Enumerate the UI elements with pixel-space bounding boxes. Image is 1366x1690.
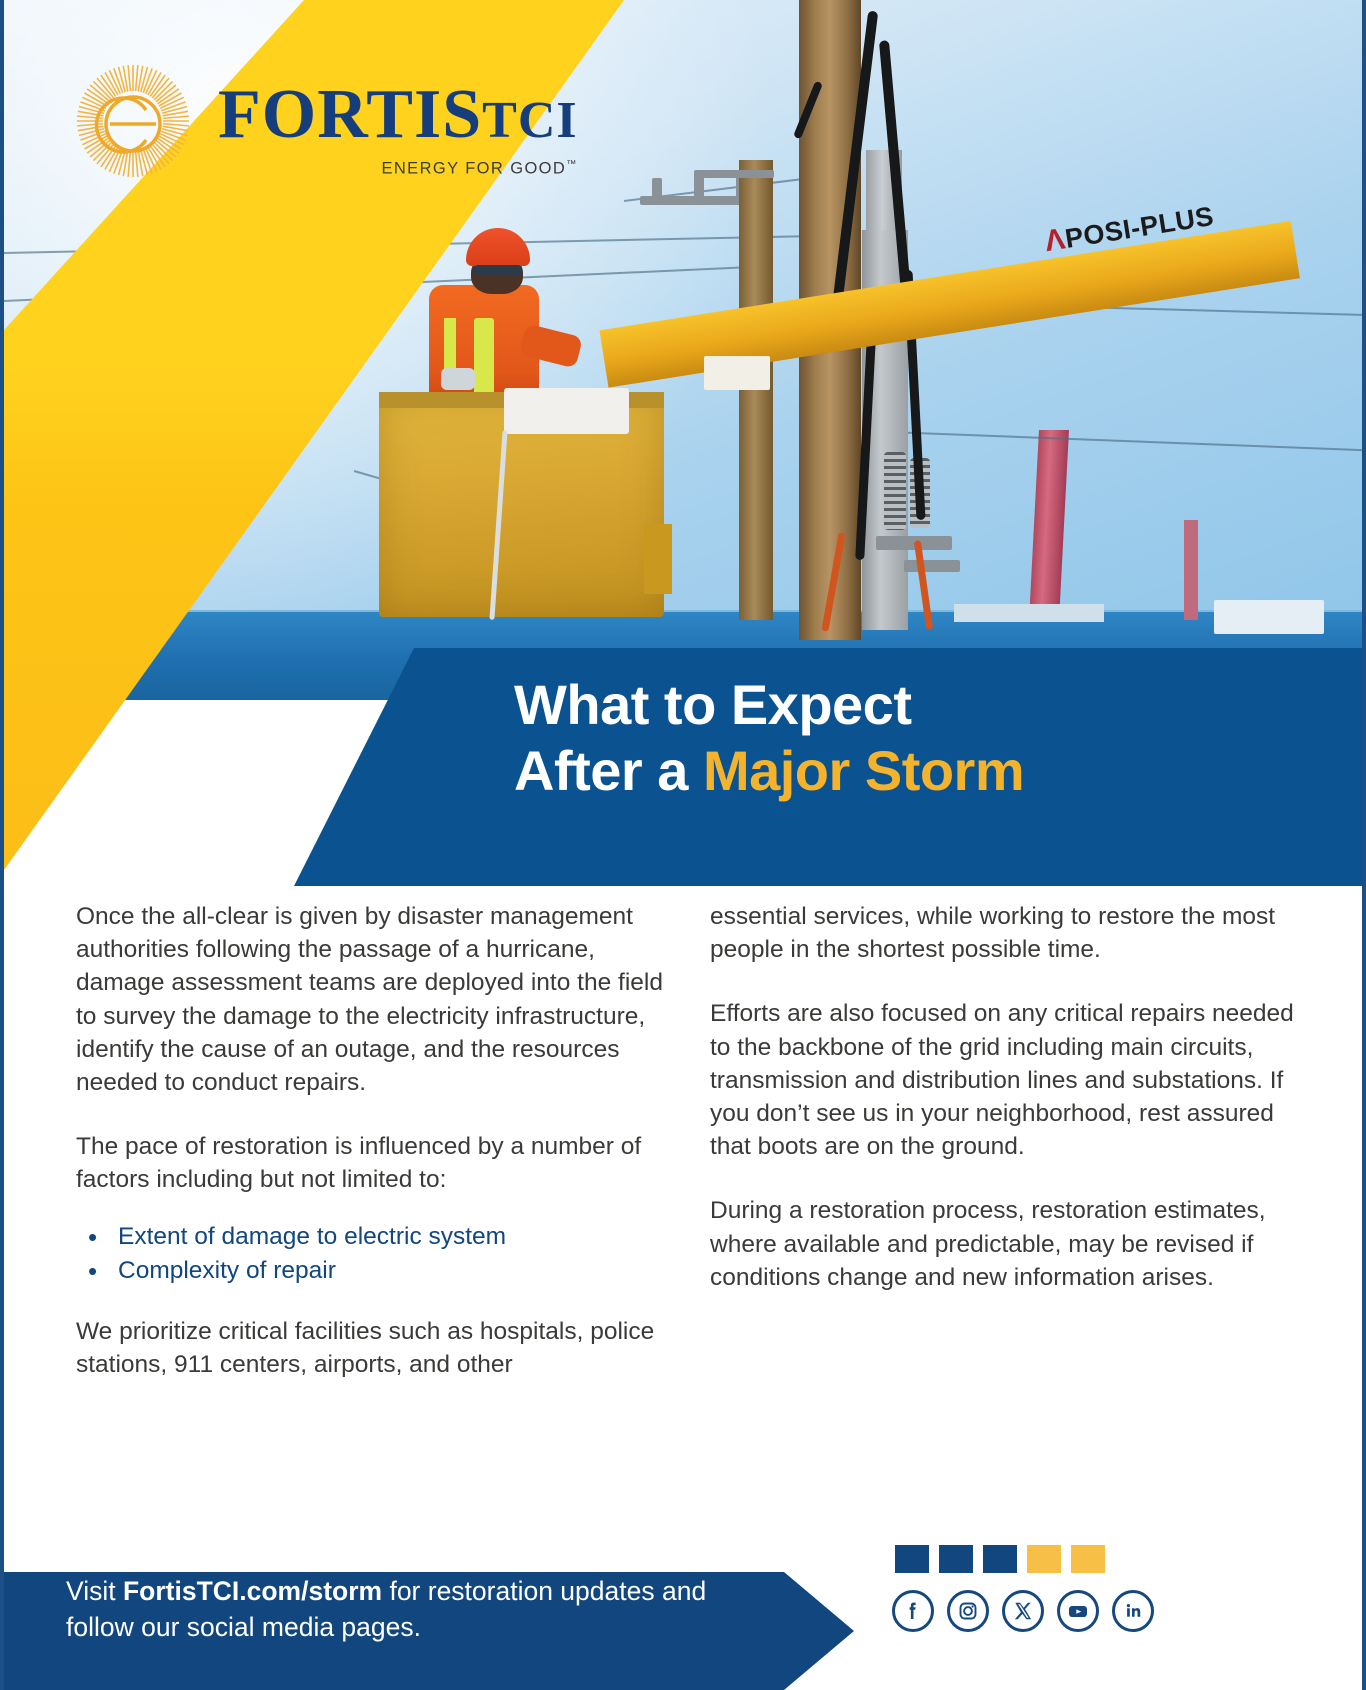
logo-tagline-text: ENERGY FOR GOOD <box>381 160 566 178</box>
body-columns: Once the all-clear is given by disaster … <box>4 900 1366 1381</box>
right-paragraph-2: Efforts are also focused on any critical… <box>710 997 1298 1163</box>
trademark-mark: ™ <box>566 159 577 170</box>
x-twitter-icon[interactable] <box>1002 1590 1044 1632</box>
title-accent-text: Major Storm <box>703 739 1024 802</box>
safety-glasses <box>474 265 522 276</box>
swatch-blue-2 <box>939 1545 973 1573</box>
boom-decal-plate <box>704 356 770 390</box>
pole-top-bracket <box>694 170 774 178</box>
footer-prefix: Visit <box>66 1576 123 1606</box>
logo-wordmark: FORTISTCI ENERGY FOR GOOD™ <box>218 80 578 179</box>
title-line-1: What to Expect <box>514 673 911 736</box>
lightning-arrester <box>884 452 906 530</box>
instagram-icon[interactable] <box>947 1590 989 1632</box>
left-paragraph-3: We prioritize critical facilities such a… <box>76 1315 664 1381</box>
logo-brand-suffix: TCI <box>482 92 577 149</box>
insulator <box>694 176 704 198</box>
secondary-utility-pole <box>739 160 773 620</box>
right-paragraph-1: essential services, while working to res… <box>710 900 1298 966</box>
swatch-blue-1 <box>895 1545 929 1573</box>
youtube-icon[interactable] <box>1057 1590 1099 1632</box>
bucket-control-box <box>644 524 672 594</box>
brand-color-swatches <box>895 1545 1105 1573</box>
list-item: Extent of damage to electric system <box>76 1220 664 1255</box>
left-paragraph-1: Once the all-clear is given by disaster … <box>76 900 664 1099</box>
left-paragraph-2: The pace of restoration is influenced by… <box>76 1130 664 1196</box>
list-item: Complexity of repair <box>76 1254 664 1289</box>
footer-call-to-action: Visit FortisTCI.com/storm for restoratio… <box>66 1574 766 1645</box>
swatch-gold-1 <box>1027 1545 1061 1573</box>
restoration-factors-list: Extent of damage to electric system Comp… <box>76 1220 664 1290</box>
right-column: essential services, while working to res… <box>710 900 1298 1381</box>
linkedin-icon[interactable] <box>1112 1590 1154 1632</box>
flyer-page: ΛPOSI-PLUS <box>0 0 1366 1690</box>
logo-main-text: FORTISTCI <box>218 80 578 150</box>
distant-boat <box>1214 600 1324 634</box>
page-title: What to Expect After a Major Storm <box>514 672 1274 804</box>
right-paragraph-3: During a restoration process, restoratio… <box>710 1194 1298 1294</box>
social-media-links <box>892 1590 1154 1632</box>
lineworker-safety-harness <box>474 318 494 398</box>
lineworker-glove <box>441 368 475 390</box>
left-column: Once the all-clear is given by disaster … <box>76 900 664 1381</box>
footer-website-link[interactable]: FortisTCI.com/storm <box>123 1576 382 1606</box>
fortis-tci-logo: FORTISTCI ENERGY FOR GOOD™ <box>74 62 578 180</box>
insulator <box>652 178 662 198</box>
swatch-gold-2 <box>1071 1545 1105 1573</box>
swatch-blue-3 <box>983 1545 1017 1573</box>
title-line-2: After a Major Storm <box>514 738 1274 804</box>
logo-tagline: ENERGY FOR GOOD™ <box>218 159 578 179</box>
title-line-2-plain: After a <box>514 739 703 802</box>
distant-dock <box>954 604 1104 622</box>
logo-brand-name: FORTIS <box>218 76 482 153</box>
distant-crane-secondary <box>1184 520 1198 620</box>
bucket-liner-tray <box>504 388 629 434</box>
sunburst-logo-icon <box>74 62 192 180</box>
facebook-icon[interactable] <box>892 1590 934 1632</box>
cutout-switch <box>904 560 960 572</box>
